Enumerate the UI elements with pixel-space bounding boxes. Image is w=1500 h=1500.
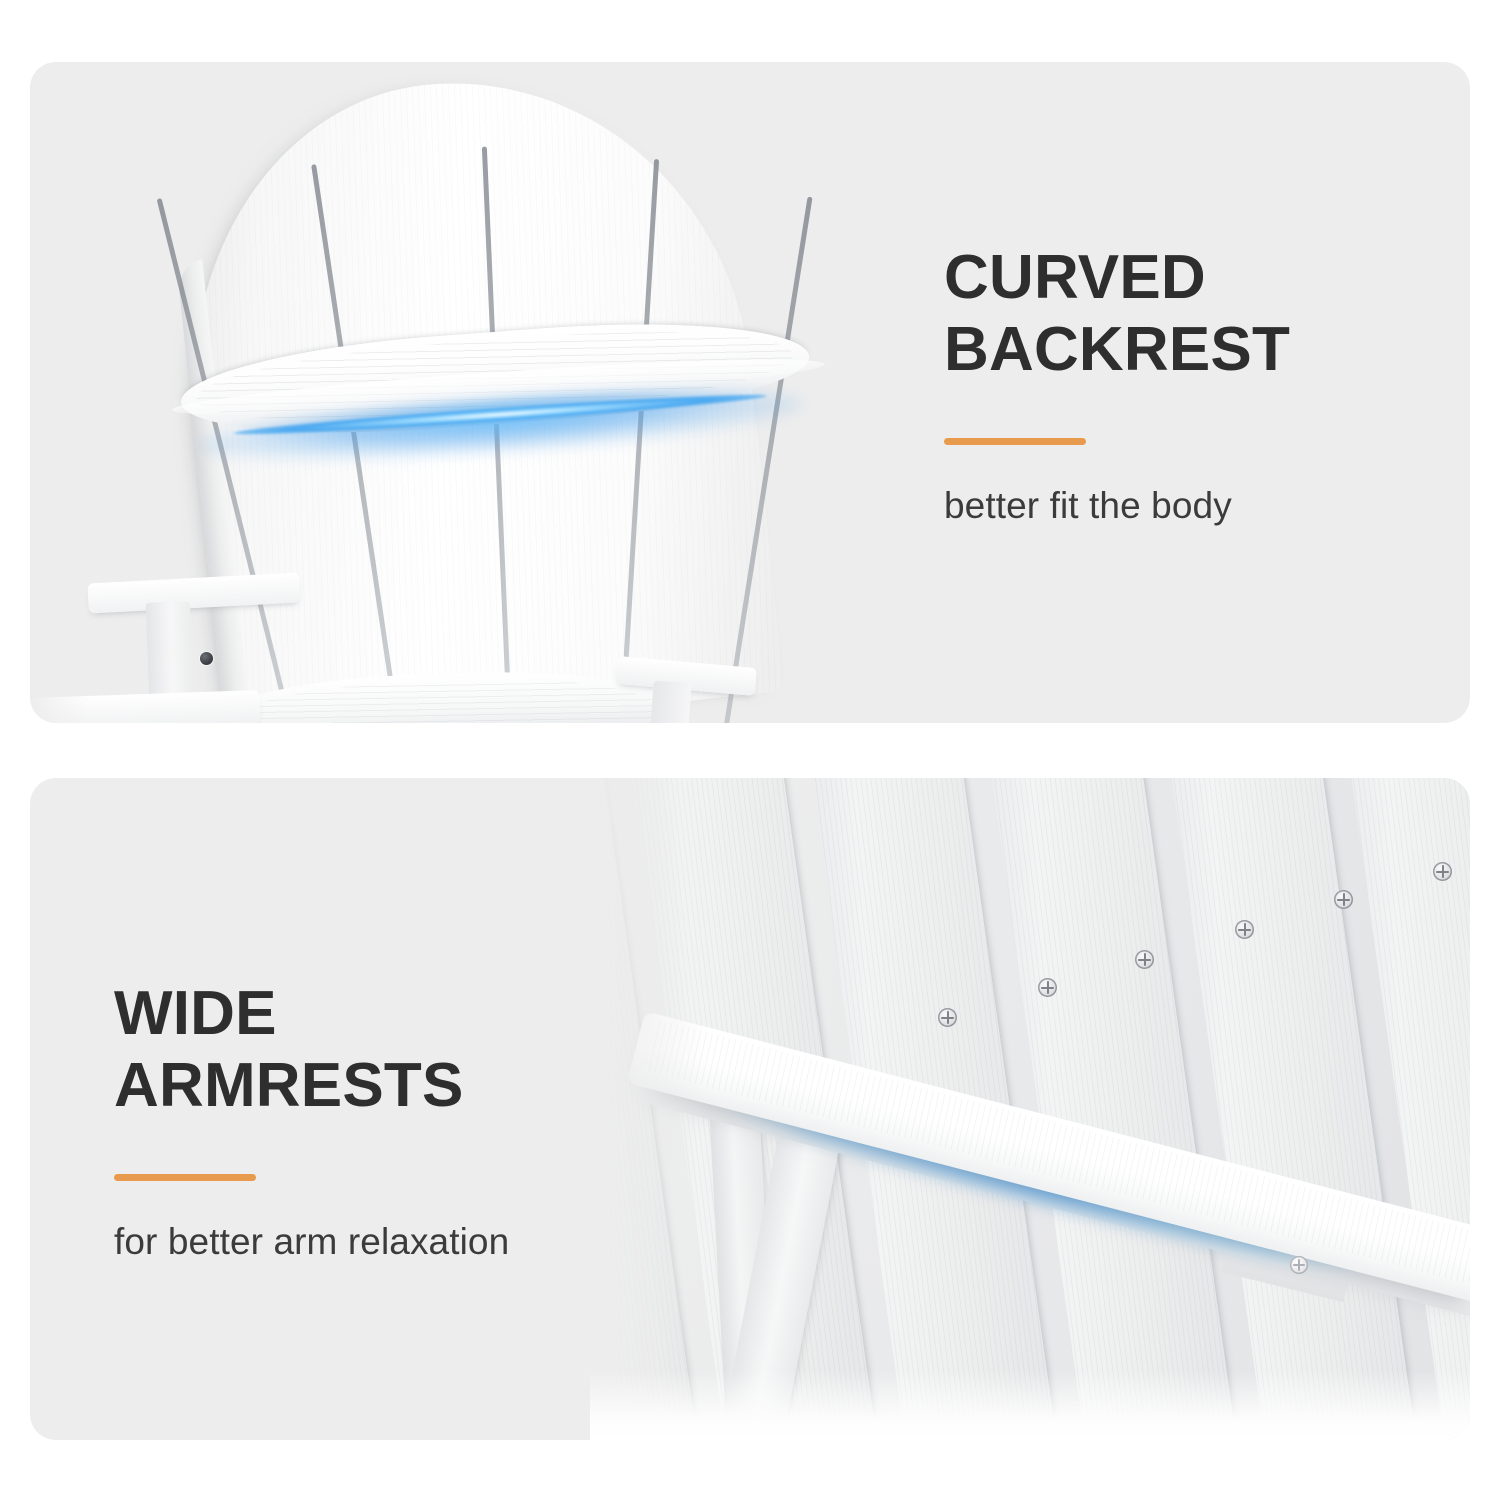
slat-screw [1433,862,1452,881]
feature-subline: for better arm relaxation [114,1221,674,1263]
accent-divider [944,438,1086,445]
product-photo-curved-backrest [30,62,910,723]
slat-screw [1038,978,1057,997]
slat-screw [938,1008,957,1027]
bracket-screw [1290,1256,1308,1274]
chair-bolt [200,652,213,665]
feature-text-curved-backrest: CURVED BACKREST better fit the body [944,242,1444,527]
feature-text-wide-armrests: WIDE ARMRESTS for better arm relaxation [114,978,674,1263]
feature-headline: WIDE ARMRESTS [114,978,674,1122]
feature-subline: better fit the body [944,485,1444,527]
chair-right-armrest-post [650,681,691,723]
accent-divider [114,1174,256,1181]
feature-panel-curved-backrest: CURVED BACKREST better fit the body [30,62,1470,723]
slat-screw [1334,890,1353,909]
photo-bottom-fade [590,1370,1470,1440]
product-photo-wide-armrests [590,778,1470,1440]
feature-headline: CURVED BACKREST [944,242,1444,386]
slat-screw [1235,920,1254,939]
feature-panel-wide-armrests: WIDE ARMRESTS for better arm relaxation [30,778,1470,1440]
slat-screw [1135,950,1154,969]
photo-edge-fade [30,62,90,723]
